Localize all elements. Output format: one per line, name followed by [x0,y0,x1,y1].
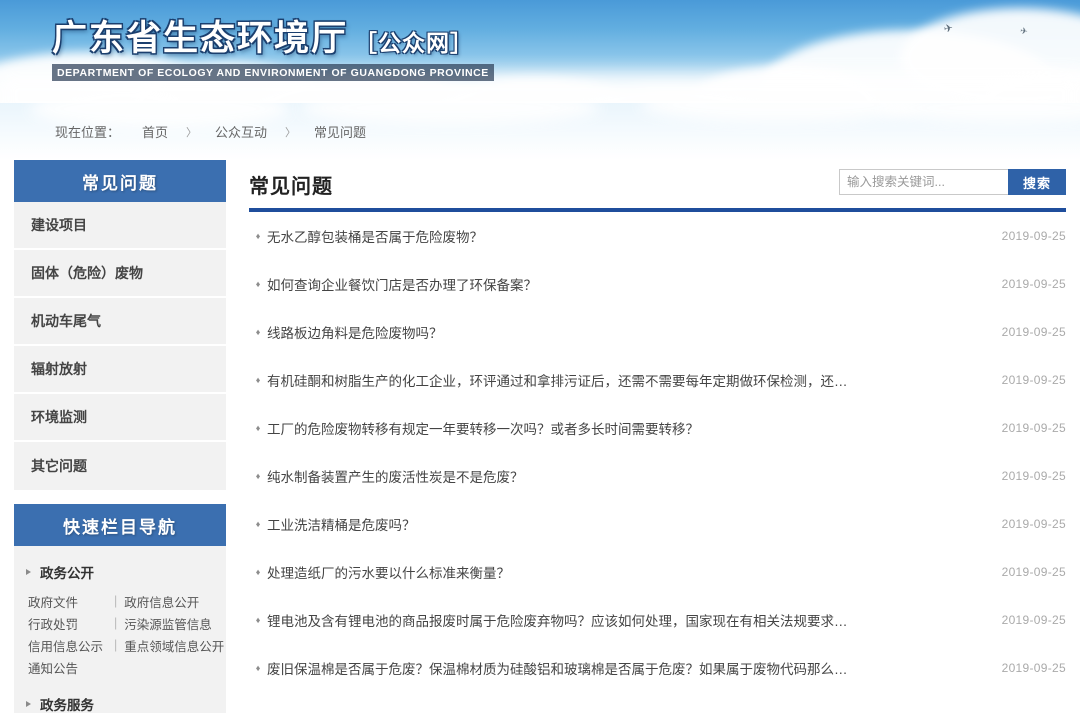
quick-nav-group-government-service[interactable]: 政务服务 [14,690,226,713]
faq-item-title[interactable]: 处理造纸厂的污水要以什么标准来衡量？ [267,562,970,582]
sidebar-item-solid-hazardous-waste[interactable]: 固体（危险）废物 [14,250,226,298]
quick-nav-row: 行政处罚 | 污染源监管信息 [28,612,226,634]
page-title: 常见问题 [249,170,333,199]
quick-link-key-area-info-disclosure[interactable]: 重点领域信息公开 [124,636,224,655]
bird-icon: ✈ [1019,27,1028,37]
diamond-bullet-icon: ♦ [249,568,267,577]
quick-nav-links-group-0: 政府文件 | 政府信息公开 行政处罚 | 污染源监管信息 信用信息公示 | 重点… [14,588,226,678]
quick-link-pollution-source-supervision[interactable]: 污染源监管信息 [124,614,212,633]
sidebar-item-construction-project[interactable]: 建设项目 [14,202,226,250]
logo-title-row: 广东省生态环境厅 ［公众网］ [52,10,494,61]
diamond-bullet-icon: ♦ [249,472,267,481]
sidebar-item-radiation[interactable]: 辐射放射 [14,346,226,394]
divider: | [114,638,117,652]
chevron-right-icon: 〉 [186,124,197,140]
quick-nav-body: 政务公开 政府文件 | 政府信息公开 行政处罚 | 污染源监管信息 信用信息公示 [14,546,226,713]
faq-list-item[interactable]: ♦ 无水乙醇包装桶是否属于危险废物？ 2019-09-25 [249,212,1066,260]
faq-item-title[interactable]: 工业洗洁精桶是危废吗？ [267,514,970,534]
diamond-bullet-icon: ♦ [249,376,267,385]
faq-item-title[interactable]: 有机硅酮和树脂生产的化工企业，环评通过和拿排污证后，还需不需要每年定期做环保检测… [267,370,970,390]
faq-list-item[interactable]: ♦ 纯水制备装置产生的废活性炭是不是危废？ 2019-09-25 [249,452,1066,500]
breadcrumb-item-public-interaction[interactable]: 公众互动 [197,122,285,141]
quick-link-administrative-penalty[interactable]: 行政处罚 [28,614,114,633]
faq-list-item[interactable]: ♦ 工业洗洁精桶是危废吗？ 2019-09-25 [249,500,1066,548]
breadcrumb-item-faq[interactable]: 常见问题 [296,122,384,141]
search-button[interactable]: 搜索 [1008,169,1066,195]
diamond-bullet-icon: ♦ [249,232,267,241]
divider: | [114,594,117,608]
main-content: 常见问题 搜索 ♦ 无水乙醇包装桶是否属于危险废物？ 2019-09-25 ♦ … [249,160,1066,692]
breadcrumb-item-home[interactable]: 首页 [124,122,186,141]
faq-list-item[interactable]: ♦ 如何查询企业餐饮门店是否办理了环保备案？ 2019-09-25 [249,260,1066,308]
quick-link-government-documents[interactable]: 政府文件 [28,592,114,611]
quick-nav-row: 政府文件 | 政府信息公开 [28,590,226,612]
faq-item-date: 2019-09-25 [970,421,1066,435]
diamond-bullet-icon: ♦ [249,520,267,529]
sidebar-item-other-questions[interactable]: 其它问题 [14,442,226,490]
faq-item-title[interactable]: 线路板边角料是危险废物吗？ [267,322,970,342]
quick-link-government-info-disclosure[interactable]: 政府信息公开 [124,592,199,611]
faq-item-date: 2019-09-25 [970,613,1066,627]
quick-link-credit-info-disclosure[interactable]: 信用信息公示 [28,636,114,655]
diamond-bullet-icon: ♦ [249,664,267,673]
chevron-right-icon: 〉 [285,124,296,140]
breadcrumb-strip: 现在位置： 首页 〉 公众互动 〉 常见问题 [0,103,1080,160]
spacer [14,678,226,690]
faq-item-title[interactable]: 锂电池及含有锂电池的商品报废时属于危险废弃物吗？应该如何处理，国家现在有相关法规… [267,610,970,630]
faq-list-item[interactable]: ♦ 处理造纸厂的污水要以什么标准来衡量？ 2019-09-25 [249,548,1066,596]
sidebar-item-vehicle-exhaust[interactable]: 机动车尾气 [14,298,226,346]
faq-list-item[interactable]: ♦ 线路板边角料是危险废物吗？ 2019-09-25 [249,308,1066,356]
faq-item-date: 2019-09-25 [970,229,1066,243]
faq-item-date: 2019-09-25 [970,277,1066,291]
faq-item-date: 2019-09-25 [970,373,1066,387]
triangle-right-icon [26,569,31,575]
diamond-bullet-icon: ♦ [249,424,267,433]
diamond-bullet-icon: ♦ [249,280,267,289]
triangle-right-icon [26,701,31,707]
faq-list-item[interactable]: ♦ 锂电池及含有锂电池的商品报废时属于危险废弃物吗？应该如何处理，国家现在有相关… [249,596,1066,644]
bird-icon: ✈ [943,23,954,36]
quick-nav-group-label: 政务公开 [40,562,94,582]
faq-item-date: 2019-09-25 [970,325,1066,339]
quick-nav-group-government-affairs[interactable]: 政务公开 [14,558,226,588]
sidebar-header: 常见问题 [14,160,226,202]
faq-item-title[interactable]: 无水乙醇包装桶是否属于危险废物？ [267,226,970,246]
faq-item-title[interactable]: 废旧保温棉是否属于危废？保温棉材质为硅酸铝和玻璃棉是否属于危废？如果属于废物代码… [267,658,970,678]
quick-nav-row: 通知公告 [28,656,226,678]
sidebar-item-environmental-monitoring[interactable]: 环境监测 [14,394,226,442]
site-title-cn: 广东省生态环境厅 [52,10,348,61]
quick-nav-header: 快速栏目导航 [14,504,226,546]
site-logo[interactable]: 广东省生态环境厅 ［公众网］ DEPARTMENT OF ECOLOGY AND… [52,10,494,81]
quick-nav-panel: 快速栏目导航 政务公开 政府文件 | 政府信息公开 行政处罚 | 污染源监管信 [14,504,226,713]
quick-nav-row: 信用信息公示 | 重点领域信息公开 [28,634,226,656]
sidebar: 常见问题 建设项目 固体（危险）废物 机动车尾气 辐射放射 环境监测 其它问题 … [14,160,226,713]
diamond-bullet-icon: ♦ [249,616,267,625]
breadcrumb-label: 现在位置： [55,122,120,141]
cloud-decoration [640,103,920,123]
faq-item-date: 2019-09-25 [970,661,1066,675]
faq-list-item[interactable]: ♦ 废旧保温棉是否属于危废？保温棉材质为硅酸铝和玻璃棉是否属于危废？如果属于废物… [249,644,1066,692]
main-header: 常见问题 搜索 [249,160,1066,208]
faq-item-date: 2019-09-25 [970,469,1066,483]
diamond-bullet-icon: ♦ [249,328,267,337]
search-input[interactable] [839,169,1008,195]
site-title-en: DEPARTMENT OF ECOLOGY AND ENVIRONMENT OF… [52,64,494,81]
page-body: 常见问题 建设项目 固体（危险）废物 机动车尾气 辐射放射 环境监测 其它问题 … [0,160,1080,713]
site-banner: ✈ ✈ 广东省生态环境厅 ［公众网］ DEPARTMENT OF ECOLOGY… [0,0,1080,103]
cloud-decoration [880,103,1080,123]
breadcrumb: 现在位置： 首页 〉 公众互动 〉 常见问题 [55,122,384,141]
search-box: 搜索 [839,169,1066,195]
faq-item-date: 2019-09-25 [970,517,1066,531]
site-title-bracket: ［公众网］ [354,24,474,58]
faq-list: ♦ 无水乙醇包装桶是否属于危险废物？ 2019-09-25 ♦ 如何查询企业餐饮… [249,212,1066,692]
faq-item-title[interactable]: 纯水制备装置产生的废活性炭是不是危废？ [267,466,970,486]
faq-item-date: 2019-09-25 [970,565,1066,579]
quick-nav-group-label: 政务服务 [40,694,94,713]
faq-list-item[interactable]: ♦ 有机硅酮和树脂生产的化工企业，环评通过和拿排污证后，还需不需要每年定期做环保… [249,356,1066,404]
divider: | [114,616,117,630]
sidebar-menu: 建设项目 固体（危险）废物 机动车尾气 辐射放射 环境监测 其它问题 [14,202,226,490]
faq-item-title[interactable]: 工厂的危险废物转移有规定一年要转移一次吗？或者多长时间需要转移？ [267,418,970,438]
quick-link-notice-announcement[interactable]: 通知公告 [28,658,114,677]
faq-item-title[interactable]: 如何查询企业餐饮门店是否办理了环保备案？ [267,274,970,294]
faq-list-item[interactable]: ♦ 工厂的危险废物转移有规定一年要转移一次吗？或者多长时间需要转移？ 2019-… [249,404,1066,452]
